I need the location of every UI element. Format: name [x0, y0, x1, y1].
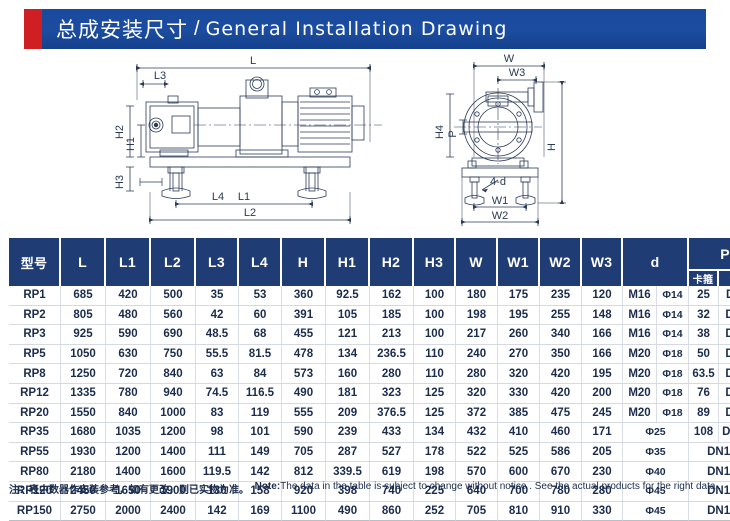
dim-label-L3: L3 [154, 70, 166, 82]
cell-L4: 53 [239, 286, 282, 306]
cell-L2: 1600 [151, 462, 196, 482]
cell-d: Φ40 [623, 462, 689, 482]
cell-L4: 101 [239, 423, 282, 443]
cell-W2: 670 [540, 462, 582, 482]
cell-W: 217 [456, 325, 498, 345]
cell-W3: 330 [582, 502, 623, 521]
cell-P-flange: DN65 [719, 384, 730, 404]
side-view-svg: L L3 L4 L1 L2 H2 H1 H3 [110, 52, 390, 232]
dim-label-L2: L2 [244, 207, 256, 219]
col-header-P: P [689, 238, 730, 269]
cell-W: 320 [456, 384, 498, 404]
cell-L2: 750 [151, 345, 196, 365]
cell-H2: 236.5 [370, 345, 414, 365]
title-separator: / [194, 18, 200, 41]
cell-L1: 1200 [106, 443, 151, 463]
cell-d-thread: M16 [623, 325, 657, 345]
table-row: RP55193012001400111149705287527178522525… [9, 443, 730, 463]
cell-W1: 195 [498, 306, 540, 326]
cell-L3: 42 [196, 306, 239, 326]
cell-P-flange: DN25 [719, 306, 730, 326]
cell-P-clamp: 25 [689, 286, 719, 306]
cell-L3: 48.5 [196, 325, 239, 345]
cell-model: RP55 [9, 443, 61, 463]
table-row: RP201550840100083119555209376.5125372385… [9, 404, 730, 424]
cell-H1: 339.5 [326, 462, 370, 482]
col-header-model: 型号 [9, 238, 61, 286]
cell-model: RP8 [9, 364, 61, 384]
cell-P-clamp: 50 [689, 345, 719, 365]
cell-W2: 340 [540, 325, 582, 345]
cell-L4: 84 [239, 364, 282, 384]
dim-label-4d: 4-d [490, 176, 506, 188]
cell-L3: 74.5 [196, 384, 239, 404]
cell-L1: 720 [106, 364, 151, 384]
table-row: RP1685420500355336092.516210018017523512… [9, 286, 730, 306]
col-header-H: H [282, 238, 326, 286]
cell-W: 372 [456, 404, 498, 424]
cell-P-flange: DN32 [719, 325, 730, 345]
cell-W3: 195 [582, 364, 623, 384]
cell-L3: 63 [196, 364, 239, 384]
cell-P-flange: DN40 [719, 345, 730, 365]
page-title-cn: 总成安装尺寸 [56, 14, 188, 44]
cell-H3: 100 [414, 306, 456, 326]
col-header-W3: W3 [582, 238, 623, 286]
cell-H: 705 [282, 443, 326, 463]
col-header-H1: H1 [326, 238, 370, 286]
cell-L2: 1400 [151, 443, 196, 463]
cell-W1: 410 [498, 423, 540, 443]
cell-W1: 600 [498, 462, 540, 482]
col-header-L3: L3 [196, 238, 239, 286]
cell-H1: 121 [326, 325, 370, 345]
cell-H3: 198 [414, 462, 456, 482]
cell-H: 360 [282, 286, 326, 306]
cell-P-flange: DN80 [719, 404, 730, 424]
cell-d-thread: M16 [623, 286, 657, 306]
cell-W1: 525 [498, 443, 540, 463]
cell-d-hole: Φ14 [657, 306, 689, 326]
cell-model: RP20 [9, 404, 61, 424]
cell-H3: 110 [414, 345, 456, 365]
cell-H1: 181 [326, 384, 370, 404]
cell-W3: 166 [582, 345, 623, 365]
cell-L2: 1000 [151, 404, 196, 424]
cell-H1: 209 [326, 404, 370, 424]
table-row: RP35168010351200981015902394331344324104… [9, 423, 730, 443]
cell-d-hole: Φ18 [657, 364, 689, 384]
cell-H2: 185 [370, 306, 414, 326]
table-row: RP80218014001600119.5142812339.561919857… [9, 462, 730, 482]
cell-L: 1550 [61, 404, 106, 424]
dim-label-H: H [546, 143, 558, 151]
title-bar-blue: 总成安装尺寸 / General Installation Drawing [42, 9, 706, 49]
cell-H2: 860 [370, 502, 414, 521]
cell-d: Φ35 [623, 443, 689, 463]
dim-label-H3: H3 [114, 175, 126, 189]
cell-L4: 68 [239, 325, 282, 345]
cell-P: DN125 [689, 462, 730, 482]
cell-W2: 420 [540, 384, 582, 404]
cell-W3: 200 [582, 384, 623, 404]
specification-table-wrap: 型号 L L1 L2 L3 L4 H H1 H2 H3 W W1 W2 W3 d… [9, 238, 721, 521]
cell-H1: 134 [326, 345, 370, 365]
specification-table: 型号 L L1 L2 L3 L4 H H1 H2 H3 W W1 W2 W3 d… [9, 238, 730, 521]
cell-W1: 270 [498, 345, 540, 365]
cell-H: 490 [282, 384, 326, 404]
cell-L1: 2000 [106, 502, 151, 521]
cell-W1: 260 [498, 325, 540, 345]
dim-label-L: L [250, 55, 256, 67]
col-header-H2: H2 [370, 238, 414, 286]
footer-notes: 注：表中数器作安装参考，如有更改，则已实物为准。 Note:The data i… [9, 481, 721, 496]
cell-d-hole: Φ18 [657, 384, 689, 404]
cell-W: 570 [456, 462, 498, 482]
cell-H: 455 [282, 325, 326, 345]
cell-P-clamp: 32 [689, 306, 719, 326]
cell-L2: 690 [151, 325, 196, 345]
dim-label-W: W [504, 53, 515, 65]
cell-W2: 460 [540, 423, 582, 443]
cell-d-hole: Φ18 [657, 345, 689, 365]
col-header-P-clamp: 卡箍 [689, 269, 719, 286]
dim-label-P: P [447, 130, 459, 137]
cell-L3: 98 [196, 423, 239, 443]
cell-W3: 120 [582, 286, 623, 306]
cell-L: 2180 [61, 462, 106, 482]
cell-L1: 780 [106, 384, 151, 404]
cell-L: 1930 [61, 443, 106, 463]
drawing-area: L L3 L4 L1 L2 H2 H1 H3 [0, 52, 730, 234]
cell-L1: 480 [106, 306, 151, 326]
cell-H2: 213 [370, 325, 414, 345]
cell-model: RP3 [9, 325, 61, 345]
cell-d-thread: M16 [623, 306, 657, 326]
cell-P-flange: Dn20 [719, 286, 730, 306]
cell-L3: 55.5 [196, 345, 239, 365]
cell-d-thread: M20 [623, 364, 657, 384]
cell-L3: 111 [196, 443, 239, 463]
cell-W3: 245 [582, 404, 623, 424]
cell-P-clamp: 63.5 [689, 364, 719, 384]
cell-W3: 166 [582, 325, 623, 345]
front-view-svg: W W3 W1 W2 4-d H4 P H [410, 52, 610, 232]
cell-H2: 433 [370, 423, 414, 443]
dim-label-H1: H1 [125, 137, 137, 151]
cell-H3: 100 [414, 286, 456, 306]
cell-L1: 1035 [106, 423, 151, 443]
dim-label-W2: W2 [492, 210, 509, 222]
cell-d: Φ25 [623, 423, 689, 443]
dim-label-L1: L1 [238, 191, 250, 203]
cell-d-thread: M20 [623, 345, 657, 365]
cell-L4: 119 [239, 404, 282, 424]
cell-H1: 160 [326, 364, 370, 384]
dim-label-W3: W3 [509, 67, 526, 79]
cell-H3: 178 [414, 443, 456, 463]
note-en-label: Note: [255, 481, 281, 492]
note-en: Note:The data in the table is subject to… [255, 481, 721, 492]
cell-W: 705 [456, 502, 498, 521]
cell-P-clamp: 76 [689, 384, 719, 404]
col-header-L4: L4 [239, 238, 282, 286]
cell-L1: 840 [106, 404, 151, 424]
cell-H: 555 [282, 404, 326, 424]
cell-d-hole: Φ18 [657, 404, 689, 424]
page-title-bar: 总成安装尺寸 / General Installation Drawing [24, 9, 706, 49]
cell-W2: 910 [540, 502, 582, 521]
cell-L4: 60 [239, 306, 282, 326]
col-header-P-flange: 法兰 [719, 269, 730, 286]
cell-L1: 420 [106, 286, 151, 306]
cell-model: RP35 [9, 423, 61, 443]
note-en-text: The data in the table is subject to chan… [280, 481, 721, 492]
cell-L: 1335 [61, 384, 106, 404]
cell-H: 478 [282, 345, 326, 365]
col-header-L: L [61, 238, 106, 286]
page-title-en: General Installation Drawing [206, 18, 508, 40]
cell-L2: 1200 [151, 423, 196, 443]
dim-label-H2: H2 [114, 125, 126, 139]
cell-L4: 81.5 [239, 345, 282, 365]
cell-W: 280 [456, 364, 498, 384]
pump-side-view: L L3 L4 L1 L2 H2 H1 H3 [110, 52, 390, 232]
cell-H: 573 [282, 364, 326, 384]
cell-W2: 420 [540, 364, 582, 384]
cell-W1: 175 [498, 286, 540, 306]
cell-H2: 527 [370, 443, 414, 463]
cell-P-flange: DN100 [719, 423, 730, 443]
col-header-W2: W2 [540, 238, 582, 286]
cell-H1: 105 [326, 306, 370, 326]
col-header-L2: L2 [151, 238, 196, 286]
cell-P-clamp: 108 [689, 423, 719, 443]
cell-L: 2750 [61, 502, 106, 521]
dim-label-L4: L4 [212, 191, 224, 203]
cell-L4: 149 [239, 443, 282, 463]
col-header-L1: L1 [106, 238, 151, 286]
cell-P: DN125 [689, 443, 730, 463]
cell-H2: 162 [370, 286, 414, 306]
cell-W1: 330 [498, 384, 540, 404]
cell-W3: 230 [582, 462, 623, 482]
cell-W: 180 [456, 286, 498, 306]
cell-H: 812 [282, 462, 326, 482]
cell-L2: 2400 [151, 502, 196, 521]
table-row: RP392559069048.5684551212131002172603401… [9, 325, 730, 345]
cell-L2: 500 [151, 286, 196, 306]
cell-H3: 252 [414, 502, 456, 521]
cell-P-flange: DN50 [719, 364, 730, 384]
cell-W2: 235 [540, 286, 582, 306]
table-header: 型号 L L1 L2 L3 L4 H H1 H2 H3 W W1 W2 W3 d… [9, 238, 730, 286]
cell-H1: 287 [326, 443, 370, 463]
cell-H: 590 [282, 423, 326, 443]
cell-H2: 376.5 [370, 404, 414, 424]
cell-W: 240 [456, 345, 498, 365]
cell-H3: 100 [414, 325, 456, 345]
cell-W3: 205 [582, 443, 623, 463]
cell-L4: 142 [239, 462, 282, 482]
cell-L4: 169 [239, 502, 282, 521]
cell-model: RP2 [9, 306, 61, 326]
cell-W2: 586 [540, 443, 582, 463]
table-row: RP15027502000240014216911004908602527058… [9, 502, 730, 521]
header-row-main: 型号 L L1 L2 L3 L4 H H1 H2 H3 W W1 W2 W3 d… [9, 238, 730, 269]
cell-H3: 125 [414, 404, 456, 424]
cell-W: 198 [456, 306, 498, 326]
cell-L: 1050 [61, 345, 106, 365]
cell-L2: 560 [151, 306, 196, 326]
col-header-H3: H3 [414, 238, 456, 286]
dim-label-W1: W1 [492, 195, 509, 207]
cell-model: RP1 [9, 286, 61, 306]
cell-model: RP80 [9, 462, 61, 482]
cell-L2: 840 [151, 364, 196, 384]
cell-L3: 83 [196, 404, 239, 424]
pump-front-view: W W3 W1 W2 4-d H4 P H [410, 52, 610, 232]
note-cn: 注：表中数器作安装参考，如有更改，则已实物为准。 [9, 481, 255, 496]
cell-d-hole: Φ14 [657, 325, 689, 345]
cell-W3: 148 [582, 306, 623, 326]
col-header-W1: W1 [498, 238, 540, 286]
cell-W: 432 [456, 423, 498, 443]
cell-W3: 171 [582, 423, 623, 443]
cell-d-hole: Φ14 [657, 286, 689, 306]
cell-H: 1100 [282, 502, 326, 521]
cell-L: 685 [61, 286, 106, 306]
table-row: RP81250720840638457316028011028032042019… [9, 364, 730, 384]
cell-L1: 590 [106, 325, 151, 345]
cell-H3: 110 [414, 364, 456, 384]
cell-L1: 630 [106, 345, 151, 365]
cell-P: DN150 [689, 502, 730, 521]
cell-W2: 350 [540, 345, 582, 365]
title-accent-block [24, 9, 42, 49]
cell-W2: 255 [540, 306, 582, 326]
cell-H1: 92.5 [326, 286, 370, 306]
cell-H3: 134 [414, 423, 456, 443]
cell-L3: 35 [196, 286, 239, 306]
table-row: RP5105063075055.581.5478134236.511024027… [9, 345, 730, 365]
cell-L3: 142 [196, 502, 239, 521]
cell-P-clamp: 38 [689, 325, 719, 345]
cell-L1: 1400 [106, 462, 151, 482]
cell-H1: 239 [326, 423, 370, 443]
cell-P-clamp: 89 [689, 404, 719, 424]
table-row: RP12133578094074.5116.549018132312532033… [9, 384, 730, 404]
cell-L: 1250 [61, 364, 106, 384]
cell-d-thread: M20 [623, 404, 657, 424]
general-installation-drawing-page: 总成安装尺寸 / General Installation Drawing [0, 0, 730, 501]
cell-d: Φ45 [623, 502, 689, 521]
col-header-W: W [456, 238, 498, 286]
cell-H: 391 [282, 306, 326, 326]
cell-H3: 125 [414, 384, 456, 404]
cell-L: 805 [61, 306, 106, 326]
cell-H2: 323 [370, 384, 414, 404]
cell-W1: 810 [498, 502, 540, 521]
dim-label-H4: H4 [434, 125, 446, 139]
cell-W1: 320 [498, 364, 540, 384]
cell-W2: 475 [540, 404, 582, 424]
cell-L2: 940 [151, 384, 196, 404]
table-row: RP28054805604260391105185100198195255148… [9, 306, 730, 326]
cell-L3: 119.5 [196, 462, 239, 482]
cell-L: 1680 [61, 423, 106, 443]
cell-W: 522 [456, 443, 498, 463]
cell-H2: 619 [370, 462, 414, 482]
cell-model: RP12 [9, 384, 61, 404]
cell-L4: 116.5 [239, 384, 282, 404]
cell-H1: 490 [326, 502, 370, 521]
cell-model: RP150 [9, 502, 61, 521]
cell-d-thread: M20 [623, 384, 657, 404]
cell-model: RP5 [9, 345, 61, 365]
col-header-d: d [623, 238, 689, 286]
cell-L: 925 [61, 325, 106, 345]
cell-H2: 280 [370, 364, 414, 384]
cell-W1: 385 [498, 404, 540, 424]
